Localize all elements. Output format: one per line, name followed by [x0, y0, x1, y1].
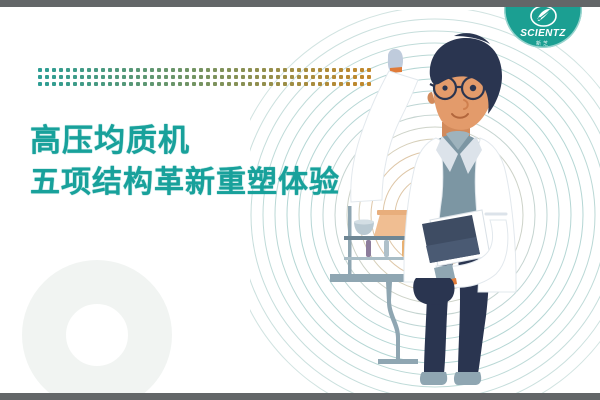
gradient-dot [255, 75, 259, 79]
gradient-dot [178, 82, 182, 86]
top-edge-bar [0, 0, 600, 7]
gradient-dot [192, 68, 196, 72]
gradient-dot [66, 75, 70, 79]
gradient-dot [234, 75, 238, 79]
gradient-dot [192, 82, 196, 86]
gradient-dot [157, 68, 161, 72]
gradient-dot [206, 82, 210, 86]
gradient-dot [206, 68, 210, 72]
gradient-dot [213, 82, 217, 86]
gradient-dot [276, 68, 280, 72]
gradient-dot [94, 75, 98, 79]
gradient-dot [262, 82, 266, 86]
gradient-dot [199, 75, 203, 79]
gradient-dot [178, 75, 182, 79]
gradient-dot [38, 75, 42, 79]
gradient-dot [136, 75, 140, 79]
gradient-dot [241, 68, 245, 72]
gradient-dot [192, 75, 196, 79]
gradient-dot [171, 82, 175, 86]
gradient-dot [73, 68, 77, 72]
gradient-dot [94, 82, 98, 86]
gradient-dot [199, 82, 203, 86]
gradient-dot [108, 68, 112, 72]
gradient-dot [87, 82, 91, 86]
gradient-dot [52, 82, 56, 86]
gradient-dot [213, 68, 217, 72]
gradient-dot [59, 75, 63, 79]
gradient-dot [136, 82, 140, 86]
gradient-dot [220, 68, 224, 72]
gradient-dot [101, 68, 105, 72]
gradient-dot [262, 68, 266, 72]
gradient-dot [129, 75, 133, 79]
gradient-dot [185, 68, 189, 72]
gradient-dot [269, 82, 273, 86]
gradient-dot [304, 75, 308, 79]
gradient-dot [171, 75, 175, 79]
gradient-dot [290, 68, 294, 72]
gradient-dot [150, 68, 154, 72]
dot-gradient-band [38, 68, 371, 86]
gradient-dot [220, 75, 224, 79]
gradient-dot [164, 68, 168, 72]
gradient-dot [311, 68, 315, 72]
gradient-dot [157, 75, 161, 79]
gradient-dot [115, 82, 119, 86]
gradient-dot [45, 75, 49, 79]
gradient-dot [248, 75, 252, 79]
gradient-dot [276, 75, 280, 79]
gradient-dot [157, 82, 161, 86]
gradient-dot [304, 68, 308, 72]
gradient-dot [248, 68, 252, 72]
gradient-dot [283, 75, 287, 79]
gradient-dot [325, 75, 329, 79]
gradient-dot [80, 68, 84, 72]
gradient-dot [199, 68, 203, 72]
gradient-dot [178, 68, 182, 72]
bottom-edge-bar [0, 393, 600, 400]
gradient-dot [143, 68, 147, 72]
scientz-emblem-icon: ® [530, 5, 557, 27]
gradient-dot [164, 82, 168, 86]
gradient-dot [38, 82, 42, 86]
gradient-dot [129, 68, 133, 72]
gradient-dot [122, 75, 126, 79]
scientz-chinese-name: 新芝 [536, 40, 550, 47]
gradient-dot [311, 75, 315, 79]
gradient-dot [318, 82, 322, 86]
gradient-dot [52, 75, 56, 79]
gradient-dot [290, 75, 294, 79]
gradient-dot [297, 68, 301, 72]
dot-row [38, 68, 371, 72]
gradient-dot [87, 75, 91, 79]
gradient-dot [52, 68, 56, 72]
gradient-dot [241, 75, 245, 79]
gradient-dot [304, 82, 308, 86]
gradient-dot [94, 68, 98, 72]
gradient-dot [269, 75, 273, 79]
gradient-dot [297, 75, 301, 79]
gradient-dot [66, 82, 70, 86]
gradient-dot [59, 82, 63, 86]
gradient-dot [234, 68, 238, 72]
gradient-dot [206, 75, 210, 79]
gradient-dot [297, 82, 301, 86]
gradient-dot [122, 82, 126, 86]
gradient-dot [150, 75, 154, 79]
gradient-dot [108, 82, 112, 86]
gradient-dot [150, 82, 154, 86]
gradient-dot [269, 68, 273, 72]
gradient-dot [73, 82, 77, 86]
gradient-dot [220, 82, 224, 86]
dot-row [38, 82, 371, 86]
background-ring-decoration [22, 260, 172, 400]
gradient-dot [248, 82, 252, 86]
gradient-dot [45, 68, 49, 72]
gradient-dot [213, 75, 217, 79]
gradient-dot [73, 75, 77, 79]
gradient-dot [290, 82, 294, 86]
gradient-dot [115, 68, 119, 72]
gradient-dot [80, 75, 84, 79]
gradient-dot [262, 75, 266, 79]
gradient-dot [283, 82, 287, 86]
gradient-dot [171, 68, 175, 72]
raised-arm-with-test-tube [351, 49, 418, 202]
gradient-dot [66, 68, 70, 72]
gradient-dot [255, 68, 259, 72]
gradient-dot [136, 68, 140, 72]
gradient-dot [185, 82, 189, 86]
gradient-dot [45, 82, 49, 86]
gradient-dot [241, 82, 245, 86]
promo-banner: 高压均质机 五项结构革新重塑体验 [0, 0, 600, 400]
gradient-dot [143, 75, 147, 79]
gradient-dot [255, 82, 259, 86]
gradient-dot [122, 68, 126, 72]
gradient-dot [283, 68, 287, 72]
gradient-dot [227, 68, 231, 72]
gradient-dot [59, 68, 63, 72]
scientist-illustration [330, 24, 600, 394]
gradient-dot [318, 75, 322, 79]
gradient-dot [101, 75, 105, 79]
scientz-wordmark: SCIENTZ [520, 28, 566, 39]
headline-line-2: 五项结构革新重塑体验 [30, 162, 340, 204]
gradient-dot [38, 68, 42, 72]
gradient-dot [87, 68, 91, 72]
gradient-dot [234, 82, 238, 86]
gradient-dot [164, 75, 168, 79]
gradient-dot [108, 75, 112, 79]
gradient-dot [129, 82, 133, 86]
gradient-dot [276, 82, 280, 86]
gradient-dot [325, 68, 329, 72]
gradient-dot [318, 68, 322, 72]
gradient-dot [325, 82, 329, 86]
gradient-dot [185, 75, 189, 79]
headline-block: 高压均质机 五项结构革新重塑体验 [30, 120, 340, 204]
gradient-dot [101, 82, 105, 86]
gradient-dot [143, 82, 147, 86]
headline-line-1: 高压均质机 [30, 120, 340, 162]
gradient-dot [115, 75, 119, 79]
dot-row [38, 75, 371, 79]
gradient-dot [80, 82, 84, 86]
gradient-dot [227, 82, 231, 86]
gradient-dot [311, 82, 315, 86]
gradient-dot [227, 75, 231, 79]
